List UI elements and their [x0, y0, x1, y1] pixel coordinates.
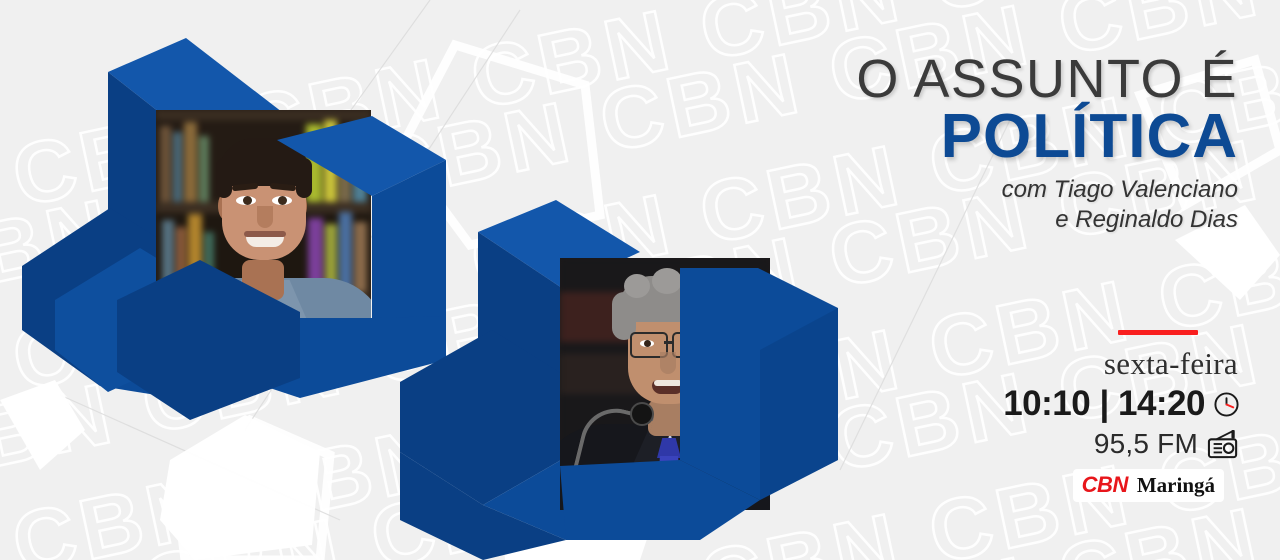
hosts-credits: com Tiago Valenciano e Reginaldo Dias	[638, 175, 1238, 234]
host-credit-line1: com Tiago Valenciano	[638, 175, 1238, 204]
radio-program-banner: CBN CBN CBN CBN CBN CBN CBN CBN CBN CBN …	[0, 0, 1280, 560]
red-divider-bar	[1118, 330, 1198, 335]
schedule-block: sexta-feira 10:10 | 14:20 95,5 FM	[920, 330, 1240, 502]
program-title-line1: O ASSUNTO É	[638, 52, 1238, 107]
broadcast-frequency-row: 95,5 FM	[920, 428, 1240, 460]
broadcast-times-row: 10:10 | 14:20	[920, 384, 1240, 424]
broadcast-weekday: sexta-feira	[920, 346, 1238, 382]
radio-icon	[1206, 429, 1240, 459]
program-title-block: O ASSUNTO É POLÍTICA com Tiago Valencian…	[638, 52, 1238, 234]
logo-brand-text: CBN	[1082, 472, 1128, 498]
broadcast-frequency: 95,5 FM	[1094, 428, 1198, 460]
host-credit-line2: e Reginaldo Dias	[638, 205, 1238, 234]
logo-city-text: Maringá	[1137, 473, 1215, 498]
program-title-line2: POLÍTICA	[638, 105, 1238, 168]
station-logo: CBN Maringá	[920, 469, 1224, 502]
broadcast-times: 10:10 | 14:20	[1003, 384, 1205, 424]
clock-icon	[1213, 391, 1240, 418]
